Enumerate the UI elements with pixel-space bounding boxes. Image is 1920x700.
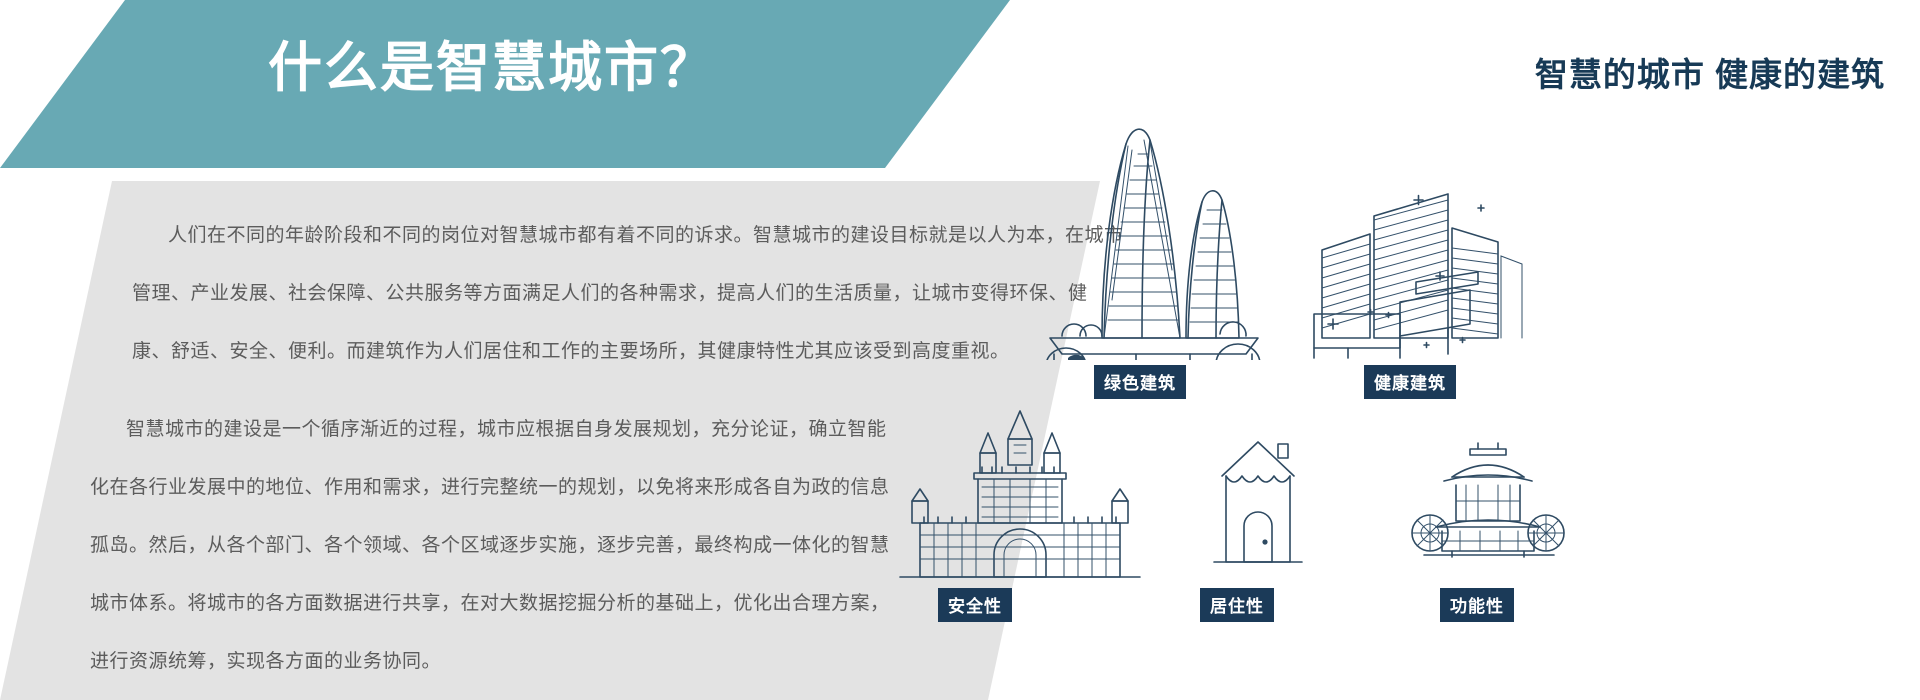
paragraph-two-line-4: 城市体系。将城市的各方面数据进行共享，在对大数据挖掘分析的基础上，优化出合理方案… bbox=[90, 575, 890, 633]
page-title: 什么是智慧城市？ bbox=[268, 36, 716, 101]
illustration-area: 绿色建筑 bbox=[1030, 110, 1920, 650]
shop-house-icon bbox=[1198, 430, 1318, 580]
slide-root: 什么是智慧城市？ 智慧的城市 健康的建筑 人们在不同的年龄阶段和不同的岗位对智慧… bbox=[0, 0, 1920, 700]
paragraph-two: 智慧城市的建设是一个循序渐近的过程，城市应根据自身发展规划，充分论证，确立智能 … bbox=[90, 401, 890, 691]
badge-functionality: 功能性 bbox=[1440, 588, 1514, 622]
pavilion-icon bbox=[1408, 435, 1568, 580]
twin-towers-icon bbox=[1040, 110, 1270, 360]
paragraph-one: 人们在不同的年龄阶段和不同的岗位对智慧城市都有着不同的诉求。智慧城市的建设目标就… bbox=[132, 207, 1124, 381]
castle-icon bbox=[890, 405, 1150, 585]
badge-green-building: 绿色建筑 bbox=[1094, 365, 1186, 399]
right-headline: 智慧的城市 健康的建筑 bbox=[1535, 48, 1885, 96]
badge-health-building: 健康建筑 bbox=[1364, 365, 1456, 399]
paragraph-one-line-3: 康、舒适、安全、便利。而建筑作为人们居住和工作的主要场所，其健康特性尤其应该受到… bbox=[132, 323, 1124, 381]
paragraph-one-line-2: 管理、产业发展、社会保障、公共服务等方面满足人们的各种需求，提高人们的生活质量，… bbox=[132, 265, 1124, 323]
paragraph-two-line-3: 孤岛。然后，从各个部门、各个领域、各个区域逐步实施，逐步完善，最终构成一体化的智… bbox=[90, 517, 890, 575]
badge-safety: 安全性 bbox=[938, 588, 1012, 622]
paragraph-two-line-1: 智慧城市的建设是一个循序渐近的过程，城市应根据自身发展规划，充分论证，确立智能 bbox=[90, 401, 890, 459]
hospital-complex-icon bbox=[1308, 172, 1538, 362]
paragraph-one-line-1: 人们在不同的年龄阶段和不同的岗位对智慧城市都有着不同的诉求。智慧城市的建设目标就… bbox=[132, 207, 1124, 265]
badge-livability: 居住性 bbox=[1200, 588, 1274, 622]
paragraph-two-line-2: 化在各行业发展中的地位、作用和需求，进行完整统一的规划，以免将来形成各自为政的信… bbox=[90, 459, 890, 517]
paragraph-two-line-5: 进行资源统筹，实现各方面的业务协同。 bbox=[90, 633, 890, 691]
